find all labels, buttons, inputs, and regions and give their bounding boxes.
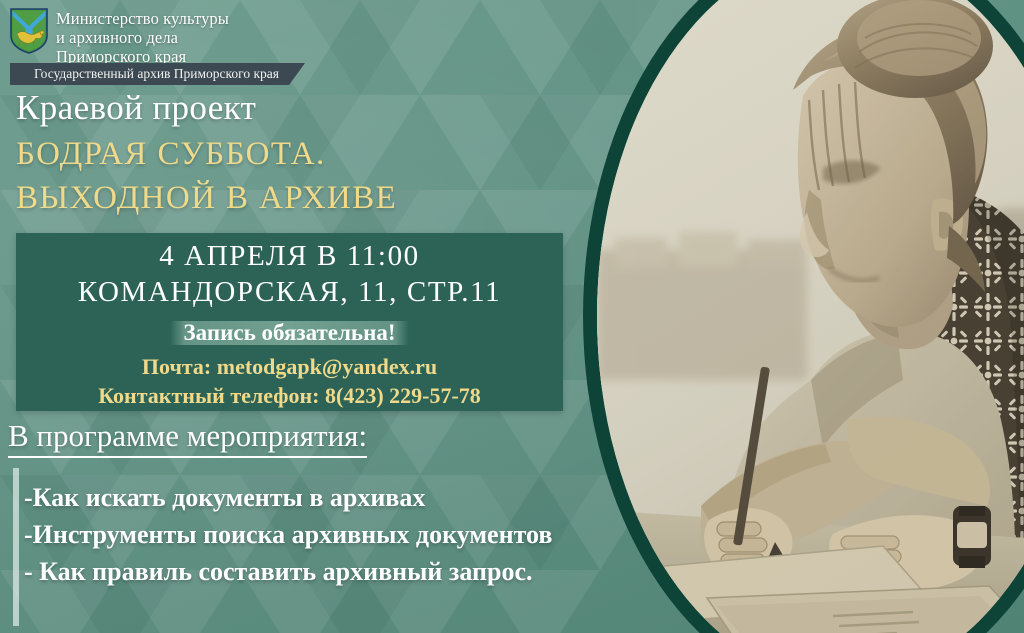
registration-note-wrap: Запись обязательна! (16, 318, 563, 347)
primorsky-krai-coat-of-arms-icon (10, 8, 48, 54)
header-branding: Министерство культуры и архивного дела П… (10, 8, 229, 66)
project-title: БОДРАЯ СУББОТА. ВЫХОДНОЙ В АРХИВЕ (16, 138, 397, 215)
program-heading: В программе мероприятия: (8, 418, 367, 458)
program-accent-bar (13, 468, 19, 626)
poster-canvas: Министерство культуры и архивного дела П… (0, 0, 1024, 633)
event-address: КОМАНДОРСКАЯ, 11, СТР.11 (16, 278, 563, 307)
ministry-line-1: Министерство культуры (56, 9, 229, 28)
project-title-line-1: БОДРАЯ СУББОТА. (16, 138, 397, 172)
contact-email: Почта: metodgapk@yandex.ru (16, 354, 563, 380)
registration-note: Запись обязательна! (170, 318, 410, 347)
ministry-line-2: и архивного дела (56, 28, 229, 47)
program-item-3: - Как правиль составить архивный запрос. (24, 554, 552, 591)
ministry-name: Министерство культуры и архивного дела П… (56, 8, 229, 66)
woman-writing-at-desk-photo (597, 0, 1024, 633)
program-item-2: -Инструменты поиска архивных документов (24, 517, 552, 554)
project-kicker: Краевой проект (16, 90, 256, 125)
project-title-line-2: ВЫХОДНОЙ В АРХИВЕ (16, 182, 397, 216)
archive-name-ribbon: Государственный архив Приморского края (10, 63, 305, 85)
contact-phone: Контактный телефон: 8(423) 229-57-78 (16, 383, 563, 409)
event-datetime: 4 АПРЕЛЯ В 11:00 (16, 242, 563, 271)
program-item-1: -Как искать документы в архивах (24, 480, 552, 517)
program-items: -Как искать документы в архивах -Инструм… (24, 480, 552, 591)
